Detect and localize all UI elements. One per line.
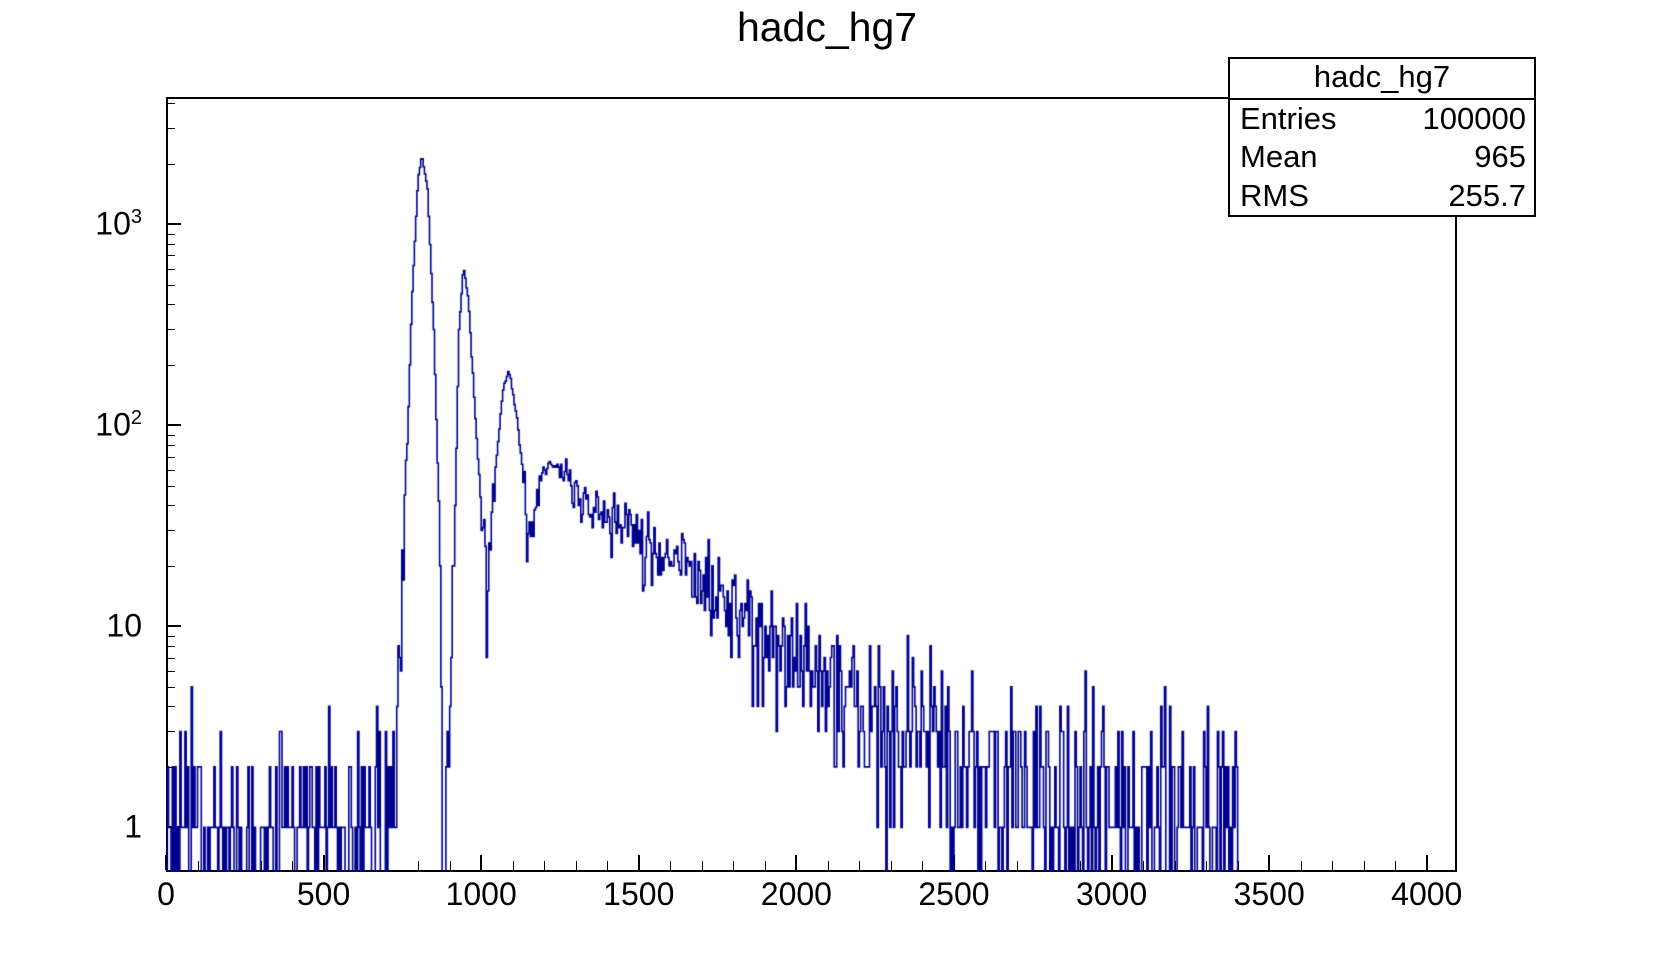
stats-row: RMS255.7 bbox=[1230, 177, 1534, 216]
stats-row-key: Mean bbox=[1240, 139, 1318, 176]
root-canvas: hadc_hg7 0500100015002000250030003500400… bbox=[0, 0, 1654, 965]
page-title: hadc_hg7 bbox=[0, 4, 1654, 51]
stats-row-key: RMS bbox=[1240, 178, 1309, 215]
x-tick-label: 1000 bbox=[446, 876, 517, 913]
stats-row: Entries100000 bbox=[1230, 100, 1534, 139]
y-tick-label: 1 bbox=[0, 809, 142, 846]
stats-row-value: 100000 bbox=[1423, 101, 1526, 138]
x-tick-label: 500 bbox=[297, 876, 350, 913]
x-tick-label: 2500 bbox=[918, 876, 989, 913]
y-tick-label: 10 bbox=[0, 608, 142, 645]
x-tick-label: 3500 bbox=[1234, 876, 1305, 913]
x-tick-label: 4000 bbox=[1391, 876, 1462, 913]
stats-row: Mean965 bbox=[1230, 138, 1534, 177]
stats-box-title: hadc_hg7 bbox=[1230, 59, 1534, 100]
y-tick-label: 103 bbox=[0, 206, 142, 243]
stats-box-rows: Entries100000Mean965RMS255.7 bbox=[1230, 100, 1534, 216]
x-tick-label: 3000 bbox=[1076, 876, 1147, 913]
y-tick-label: 102 bbox=[0, 407, 142, 444]
stats-row-key: Entries bbox=[1240, 101, 1336, 138]
x-tick-label: 0 bbox=[157, 876, 175, 913]
stats-box[interactable]: hadc_hg7 Entries100000Mean965RMS255.7 bbox=[1228, 57, 1536, 217]
x-tick-label: 2000 bbox=[761, 876, 832, 913]
stats-row-value: 965 bbox=[1474, 139, 1526, 176]
x-tick-label: 1500 bbox=[603, 876, 674, 913]
stats-row-value: 255.7 bbox=[1448, 178, 1526, 215]
